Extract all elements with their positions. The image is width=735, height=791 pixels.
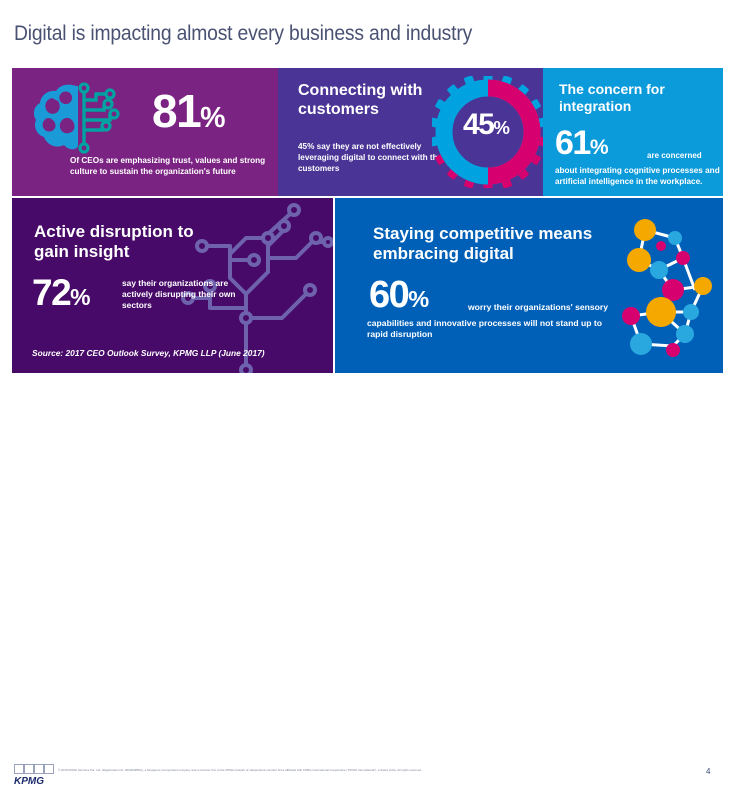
- network-nodes-icon: [617, 212, 717, 365]
- caption-staying-competitive: capabilities and innovative processes wi…: [367, 318, 622, 341]
- note-worry-sensory: worry their organizations' sensory: [468, 302, 608, 312]
- panel-ceo-trust: 81% Of CEOs are emphasizing trust, value…: [12, 68, 278, 196]
- heading-active-disruption: Active disruption to gain insight: [34, 222, 214, 262]
- stat-45: 45%: [463, 110, 509, 140]
- stat-61: 61%: [555, 126, 608, 160]
- stat-60: 60%: [369, 276, 428, 314]
- brain-circuit-icon: [30, 82, 138, 159]
- legal-copyright: © 2018 KPMG Services Pte. Ltd. (Registra…: [58, 769, 678, 772]
- note-are-concerned: are concerned: [647, 151, 702, 160]
- percent-sign: %: [408, 286, 428, 312]
- footer: KPMG © 2018 KPMG Services Pte. Ltd. (Reg…: [0, 378, 735, 414]
- page-title: Digital is impacting almost every busine…: [14, 22, 472, 46]
- stat-81-value: 81: [152, 85, 200, 137]
- panel-active-disruption: Active disruption to gain insight 72% sa…: [12, 198, 333, 373]
- source-note: Source: 2017 CEO Outlook Survey, KPMG LL…: [32, 348, 265, 358]
- stat-60-value: 60: [369, 274, 408, 316]
- infographic-grid: 81% Of CEOs are emphasizing trust, value…: [12, 68, 723, 373]
- heading-staying-competitive: Staying competitive means embracing digi…: [373, 224, 643, 264]
- percent-sign: %: [200, 102, 224, 134]
- panel-staying-competitive: Staying competitive means embracing digi…: [335, 198, 723, 373]
- kpmg-logo: KPMG: [14, 764, 56, 791]
- caption-integration-concern: about integrating cognitive processes an…: [555, 166, 723, 188]
- heading-integration-concern: The concern for integration: [559, 81, 709, 114]
- stat-61-value: 61: [555, 124, 590, 162]
- kpmg-wordmark: KPMG: [14, 776, 44, 786]
- caption-active-disruption: say their organizations are actively dis…: [122, 278, 237, 311]
- page-number: 4: [706, 767, 710, 776]
- panel-connecting-customers: Connecting with customers 45% say they a…: [278, 68, 543, 196]
- percent-sign: %: [493, 117, 509, 138]
- stat-72-value: 72: [32, 272, 70, 313]
- caption-ceo-trust: Of CEOs are emphasizing trust, values an…: [70, 156, 270, 178]
- caption-connecting-customers: 45% say they are not effectively leverag…: [298, 142, 453, 174]
- stat-81: 81%: [152, 88, 225, 134]
- percent-sign: %: [590, 136, 608, 159]
- percent-sign: %: [70, 284, 89, 310]
- panel-integration-concern: The concern for integration 61% are conc…: [543, 68, 723, 196]
- stat-45-value: 45: [463, 108, 493, 141]
- stat-72: 72%: [32, 274, 90, 311]
